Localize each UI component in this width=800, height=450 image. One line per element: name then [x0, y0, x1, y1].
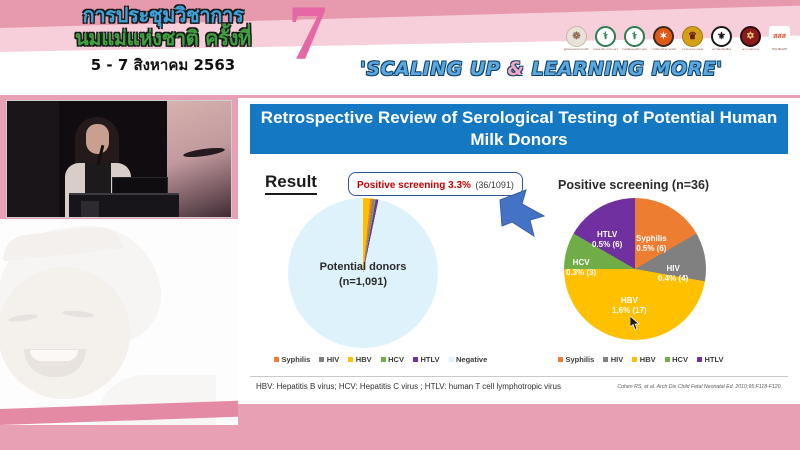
reference-citation: Cohen RS, et al. Arch Dis Child Fetal Ne…: [617, 384, 782, 390]
presentation-slide: Retrospective Review of Serological Test…: [238, 98, 800, 404]
slice-name-htlv: HTLV: [597, 230, 617, 239]
positive-screening-chart: Syphilis 0.5% (6) HIV 0.4% (4) HBV 1.6% …: [564, 198, 706, 340]
sponsor-logo: ⚕ กรมอนามัย กระทรวงสาธารณสุข: [593, 26, 618, 51]
legend-swatch-syphilis: [558, 357, 563, 362]
logo-caption: มหาวิทยาลัยมหิดล: [709, 48, 734, 51]
legend-item-negative[interactable]: Negative: [449, 355, 488, 364]
legend-label-negative: Negative: [456, 355, 487, 364]
conference-header-banner: การประชุมวิชาการ นมแม่แห่งชาติ ครั้งที่ …: [0, 0, 800, 95]
legend-item-htlv[interactable]: HTLV: [697, 355, 724, 364]
sponsor-logo: ⚜ มหาวิทยาลัยมหิดล: [709, 26, 734, 51]
positive-screening-title: Positive screening (n=36): [558, 178, 709, 192]
sponsor-logo: ⚕ กรมสนับสนุนบริการสุขภาพ: [622, 26, 647, 51]
conference-title-line1: การประชุมวิชาการ: [18, 4, 308, 27]
speaker-video-feed[interactable]: [6, 100, 232, 218]
legend-label-hiv: HIV: [327, 355, 340, 364]
legend-label-htlv: HTLV: [704, 355, 723, 364]
legend-label-htlv: HTLV: [420, 355, 439, 364]
conference-tagline: 'SCALING UP & LEARNING MORE': [360, 58, 723, 80]
tagline-ampersand: &: [507, 58, 524, 80]
slice-value-htlv: 0.5% (6): [592, 240, 622, 249]
potential-donors-subtitle: (n=1,091): [288, 275, 438, 290]
legend-label-syphilis: Syphilis: [282, 355, 311, 364]
slice-name-hiv: HIV: [666, 264, 679, 273]
logo-royal-emblem-icon: ♛: [682, 26, 703, 47]
legend-swatch-hcv: [665, 357, 670, 362]
logo-university-icon: ⚜: [711, 26, 732, 47]
legend-label-syphilis: Syphilis: [566, 355, 595, 364]
slide-title: Retrospective Review of Serological Test…: [250, 104, 788, 154]
legend-swatch-hiv: [319, 357, 324, 362]
abbreviation-legend: HBV: Hepatitis B virus; HCV: Hepatitis C…: [256, 382, 561, 391]
photo-fade-overlay: [0, 219, 238, 425]
slice-name-hbv: HBV: [621, 296, 638, 305]
legend-item-syphilis[interactable]: Syphilis: [274, 355, 310, 364]
legend-label-hcv: HCV: [672, 355, 688, 364]
slice-value-syphilis: 0.5% (6): [636, 244, 666, 253]
legend-positive-screening: Syphilis HIV HBV HCV HTLV: [558, 355, 724, 364]
conference-date: 5 - 7 สิงหาคม 2563: [18, 53, 308, 77]
tagline-part1: 'SCALING UP: [360, 58, 507, 80]
legend-swatch-hcv: [381, 357, 386, 362]
sponsor-logo: ✶ ราชวิทยาลัยกุมารแพทย์: [651, 26, 676, 51]
legend-swatch-htlv: [413, 357, 418, 362]
slice-label-hcv: HCV 0.3% (3): [566, 258, 596, 278]
logo-caption: กระทรวงสาธารณสุข: [680, 48, 705, 51]
legend-label-hbv: HBV: [356, 355, 372, 364]
sponsor-logo: ♛ กระทรวงสาธารณสุข: [680, 26, 705, 51]
logo-caption: ศูนย์นมแม่แห่งประเทศไทย: [564, 48, 589, 51]
logo-thaihealth-icon: สสส: [769, 26, 790, 47]
legend-item-hcv[interactable]: HCV: [665, 355, 688, 364]
slice-label-hiv: HIV 0.4% (4): [658, 264, 688, 284]
slice-label-hbv: HBV 1.6% (17): [612, 296, 647, 316]
logo-caption: ราชวิทยาลัยกุมารแพทย์: [651, 48, 676, 51]
potential-donors-chart: Potential donors (n=1,091): [288, 198, 438, 348]
slide-footnote: HBV: Hepatitis B virus; HCV: Hepatitis C…: [250, 376, 788, 396]
potential-donors-title: Potential donors: [288, 260, 438, 275]
blue-arrow-icon: [496, 186, 552, 242]
tagline-part2: LEARNING MORE': [524, 58, 722, 80]
child-background-photo: [0, 219, 238, 425]
legend-item-hbv[interactable]: HBV: [348, 355, 371, 364]
slice-value-hiv: 0.4% (4): [658, 274, 688, 283]
legend-swatch-negative: [449, 357, 454, 362]
video-wall-left: [7, 101, 59, 218]
legend-label-hiv: HIV: [611, 355, 624, 364]
legend-item-hiv[interactable]: HIV: [319, 355, 339, 364]
logo-royal-seal-icon: ✡: [740, 26, 761, 47]
conference-edition-number: 7: [288, 0, 327, 72]
legend-item-hiv[interactable]: HIV: [603, 355, 623, 364]
slice-value-hbv: 1.6% (17): [612, 306, 647, 315]
legend-swatch-hbv: [348, 357, 353, 362]
legend-label-hbv: HBV: [640, 355, 656, 364]
legend-swatch-syphilis: [274, 357, 279, 362]
speaker-face: [86, 124, 109, 154]
legend-item-hbv[interactable]: HBV: [632, 355, 655, 364]
slice-value-hcv: 0.3% (3): [566, 268, 596, 277]
conference-title-line2: นมแม่แห่งชาติ ครั้งที่: [18, 27, 308, 50]
podium-panel: [81, 201, 99, 218]
logo-thai-breastfeeding-icon: ☸: [566, 26, 587, 47]
sponsor-logo: ✡ สภาการพยาบาล: [738, 26, 763, 51]
sponsor-logo: ☸ ศูนย์นมแม่แห่งประเทศไทย: [564, 26, 589, 51]
legend-swatch-hiv: [603, 357, 608, 362]
legend-label-hcv: HCV: [388, 355, 404, 364]
logo-caption: THAI HEALTH: [767, 48, 792, 51]
logo-ministry-health-2-icon: ⚕: [624, 26, 645, 47]
slice-name-syphilis: Syphilis: [636, 234, 667, 243]
slice-label-syphilis: Syphilis 0.5% (6): [636, 234, 667, 254]
legend-item-hcv[interactable]: HCV: [381, 355, 404, 364]
sponsor-logo: สสส THAI HEALTH: [767, 26, 792, 51]
callout-percentage: Positive screening 3.3%: [357, 180, 471, 191]
mouse-cursor: [630, 316, 641, 336]
slice-name-hcv: HCV: [573, 258, 590, 267]
logo-royal-college-icon: ✶: [653, 26, 674, 47]
logo-caption: กรมสนับสนุนบริการสุขภาพ: [622, 48, 647, 51]
legend-swatch-htlv: [697, 357, 702, 362]
legend-potential-donors: Syphilis HIV HBV HCV HTLV Negative: [274, 355, 487, 364]
legend-item-htlv[interactable]: HTLV: [413, 355, 440, 364]
logo-caption: กรมอนามัย กระทรวงสาธารณสุข: [593, 48, 618, 51]
sponsor-logos-row: ☸ ศูนย์นมแม่แห่งประเทศไทย ⚕ กรมอนามัย กร…: [564, 26, 792, 51]
potential-donors-label: Potential donors (n=1,091): [288, 260, 438, 290]
logo-ministry-health-1-icon: ⚕: [595, 26, 616, 47]
result-heading: Result: [265, 172, 317, 195]
logo-caption: สภาการพยาบาล: [738, 48, 763, 51]
legend-swatch-hbv: [632, 357, 637, 362]
slice-label-htlv: HTLV 0.5% (6): [592, 230, 622, 250]
conference-title-thai: การประชุมวิชาการ นมแม่แห่งชาติ ครั้งที่ …: [18, 4, 308, 77]
legend-item-syphilis[interactable]: Syphilis: [558, 355, 594, 364]
